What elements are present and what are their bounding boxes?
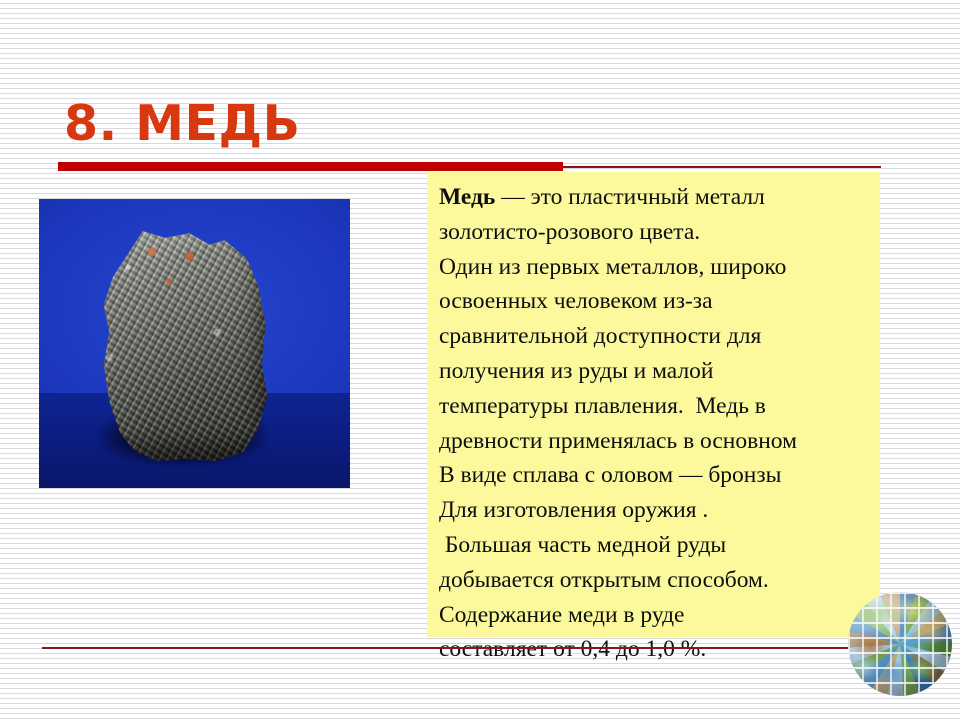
body-line: древности применялась в основном [439,424,870,459]
body-line: В виде сплава с оловом — бронзы [439,458,870,493]
globe-highlight [848,592,952,696]
description-textbox: Медь — это пластичный металл золотисто-р… [427,172,880,637]
body-line: добывается открытым способом. [439,563,870,598]
body-line: получения из руды и малой [439,354,870,389]
title-rule-thick [58,162,563,171]
globe-logo-icon [848,592,952,696]
body-line-lead: Медь — это пластичный металл [439,180,870,215]
body-lead-word: Медь [439,184,495,210]
slide-canvas: 8. МЕДЬ Медь — это пластичный металл зол… [0,0,960,720]
page-title: 8. МЕДЬ [64,96,301,152]
body-line: Содержание меди в руде [439,598,870,633]
body-line: сравнительной доступности для [439,319,870,354]
body-line: Большая часть медной руды [439,528,870,563]
body-line: Для изготовления оружия . [439,493,870,528]
body-line: Один из первых металлов, широко [439,250,870,285]
copper-ore-image [39,199,350,488]
body-line: золотисто-розового цвета. [439,215,870,250]
body-lead-rest: — это пластичный металл [495,184,765,210]
body-line: температуры плавления. Медь в [439,389,870,424]
body-line: освоенных человеком из-за [439,284,870,319]
footer-rule [42,647,880,649]
body-line: составляет от 0,4 до 1,0 %. [439,632,870,667]
